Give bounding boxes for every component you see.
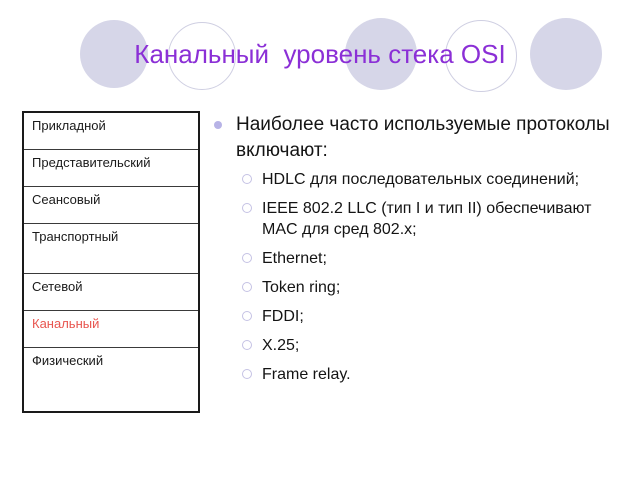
protocol-list: HDLC для последовательных соединений;IEE…	[210, 169, 620, 385]
bullet-ring-icon	[242, 174, 252, 184]
osi-layer-row: Транспортный	[24, 224, 198, 274]
slide-canvas: Канальный уровень стека OSI ПрикладнойПр…	[0, 0, 640, 480]
protocol-list-item-text: X.25;	[262, 337, 299, 354]
protocol-list-item: Token ring;	[210, 277, 620, 298]
protocol-list-item-text: Token ring;	[262, 279, 340, 296]
bullet-dot-icon	[214, 121, 222, 129]
protocol-list-item: Ethernet;	[210, 248, 620, 269]
osi-layer-row: Представительский	[24, 150, 198, 187]
bullet-ring-icon	[242, 340, 252, 350]
bullet-ring-icon	[242, 253, 252, 263]
protocol-list-item-text: Ethernet;	[262, 250, 327, 267]
protocol-list-item: IEEE 802.2 LLC (тип I и тип II) обеспечи…	[210, 198, 620, 240]
osi-layer-row: Сеансовый	[24, 187, 198, 224]
protocol-list-item: Frame relay.	[210, 364, 620, 385]
protocol-list-item-text: IEEE 802.2 LLC (тип I и тип II) обеспечи…	[262, 200, 591, 238]
lead-bullet-item: Наиболее часто используемые протоколы вк…	[210, 112, 620, 164]
protocol-list-item-text: HDLC для последовательных соединений;	[262, 171, 579, 188]
lead-bullet-text: Наиболее часто используемые протоколы вк…	[236, 114, 610, 161]
bullet-ring-icon	[242, 369, 252, 379]
osi-layer-row: Прикладной	[24, 113, 198, 150]
bullet-ring-icon	[242, 282, 252, 292]
bullet-ring-icon	[242, 311, 252, 321]
protocol-list-item-text: Frame relay.	[262, 366, 351, 383]
page-title: Канальный уровень стека OSI	[0, 38, 640, 70]
osi-layer-row: Сетевой	[24, 274, 198, 311]
protocol-list-item: HDLC для последовательных соединений;	[210, 169, 620, 190]
bullet-ring-icon	[242, 203, 252, 213]
osi-layers-table: ПрикладнойПредставительскийСеансовыйТран…	[22, 111, 200, 413]
osi-layer-row: Канальный	[24, 311, 198, 348]
osi-layer-row: Физический	[24, 348, 198, 398]
protocol-list-item: FDDI;	[210, 306, 620, 327]
protocol-list-item: X.25;	[210, 335, 620, 356]
content-column: Наиболее часто используемые протоколы вк…	[210, 112, 620, 393]
protocol-list-item-text: FDDI;	[262, 308, 304, 325]
